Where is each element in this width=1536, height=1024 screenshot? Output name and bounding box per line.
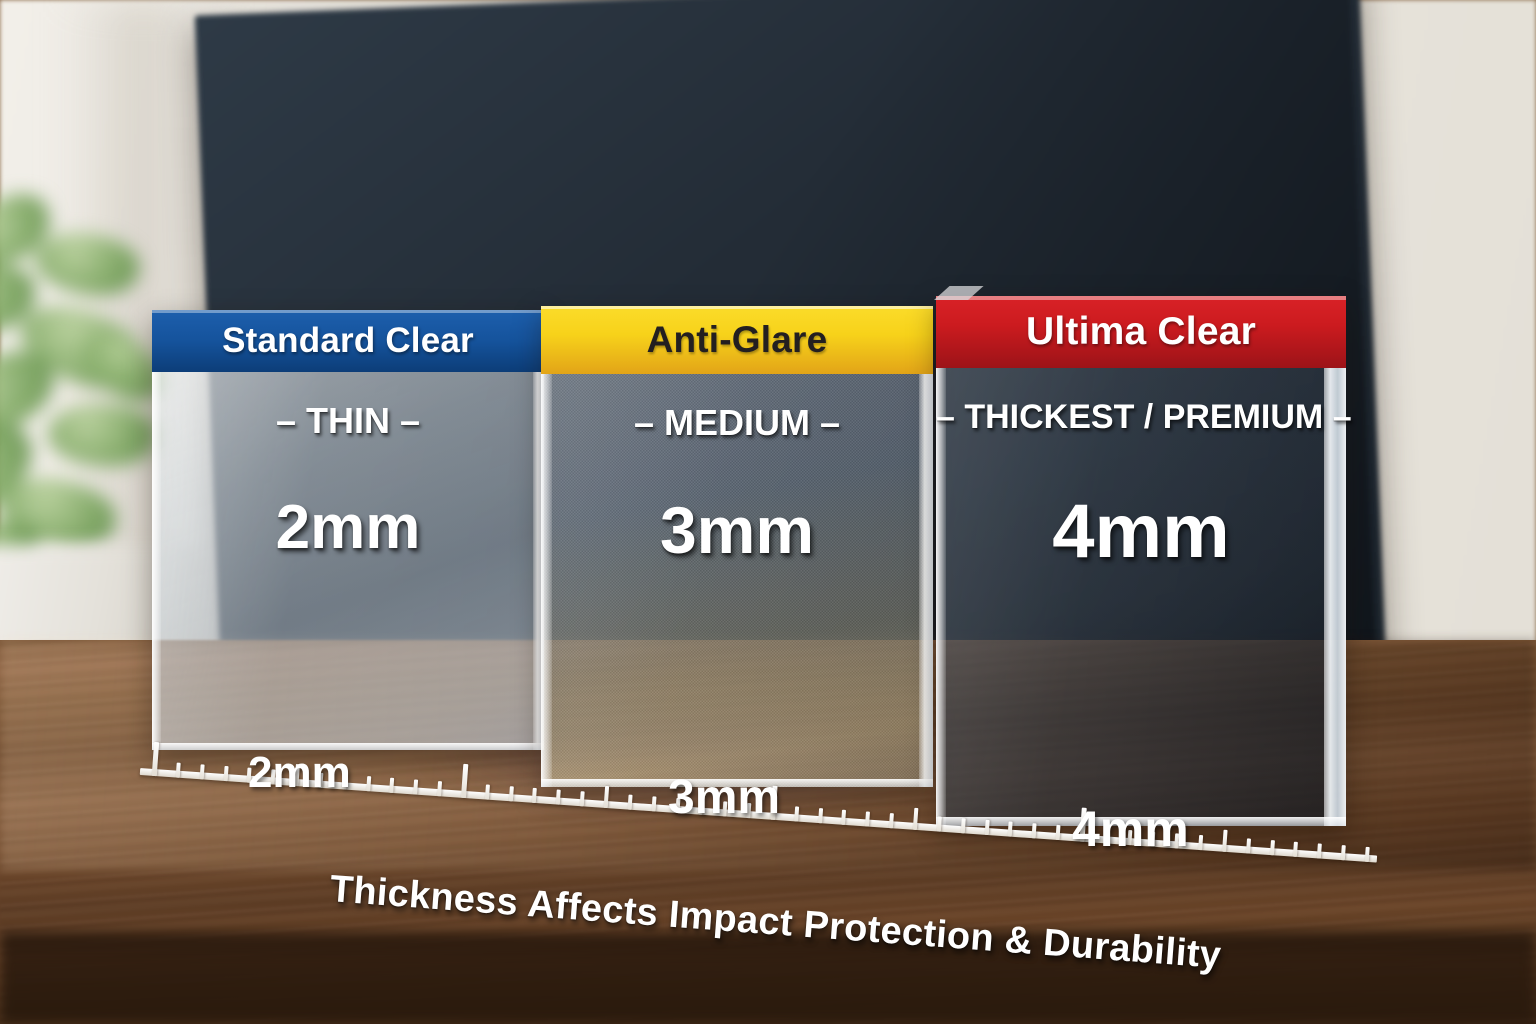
ruler-tick-minor <box>1032 823 1037 838</box>
ruler-tick-minor <box>1198 835 1203 850</box>
ruler-tick-minor <box>1008 821 1013 836</box>
ruler-tick-major <box>461 764 468 798</box>
ruler-tick-minor <box>1341 845 1346 860</box>
panel-anti-glare[interactable]: Anti-Glare – MEDIUM – 3mm <box>541 306 933 787</box>
ruler-label-2mm: 2mm <box>248 748 351 798</box>
ruler-tick-minor <box>413 779 418 794</box>
panel-tier-label: – THICKEST / PREMIUM – <box>936 398 1346 437</box>
panel-header-anti-glare: Anti-Glare <box>541 306 933 374</box>
ruler-tick-minor <box>532 788 537 803</box>
panel-thickness-label: 3mm <box>541 492 933 568</box>
ruler-tick-minor <box>651 796 656 811</box>
panel-tier-label: – MEDIUM – <box>541 402 933 444</box>
panel-title: Standard Clear <box>222 321 474 361</box>
ruler-tick-minor <box>889 813 894 828</box>
ruler-tick-minor <box>437 781 442 796</box>
panel-title: Anti-Glare <box>647 319 828 361</box>
ruler-tick-minor <box>175 763 180 778</box>
ruler-tick-minor <box>556 790 561 805</box>
ruler-tick-minor <box>1317 843 1322 858</box>
ruler-tick-minor <box>865 811 870 826</box>
ruler-tick-minor <box>794 806 799 821</box>
panel-header-ultima-clear: Ultima Clear <box>936 296 1346 368</box>
ruler-tick-minor <box>199 764 204 779</box>
ruler-tick-minor <box>818 808 823 823</box>
scene-stage: Standard Clear – THIN – 2mm Anti-Glare –… <box>0 0 1536 1024</box>
panel-header-standard-clear: Standard Clear <box>152 310 544 372</box>
ruler-tick-minor <box>223 766 228 781</box>
ruler-tick-minor <box>390 778 395 793</box>
ruler-tick-minor <box>604 786 610 808</box>
ruler-label-3mm: 3mm <box>668 770 780 825</box>
ruler-tick-minor <box>1055 825 1060 840</box>
panel-tier-label: – THIN – <box>152 400 544 442</box>
ruler-tick-minor <box>841 810 846 825</box>
ruler-tick-minor <box>1246 838 1251 853</box>
ruler-label-4mm: 4mm <box>1072 800 1189 858</box>
panel-title: Ultima Clear <box>1026 310 1256 354</box>
panel-thickness-label: 4mm <box>936 488 1346 575</box>
ruler-tick-minor <box>1293 842 1298 857</box>
ruler-tick-minor <box>366 776 371 791</box>
ruler-tick-minor <box>1222 830 1228 852</box>
ruler-tick-minor <box>485 784 490 799</box>
ruler-tick-minor <box>580 791 585 806</box>
ruler-tick-minor <box>937 816 942 831</box>
ruler-tick-minor <box>1270 840 1275 855</box>
panel-standard-clear[interactable]: Standard Clear – THIN – 2mm <box>152 310 544 750</box>
ruler-tick-minor <box>508 786 513 801</box>
ruler-tick-minor <box>960 818 965 833</box>
ruler-tick-minor <box>913 808 919 830</box>
ruler-tick-minor <box>627 795 632 810</box>
ruler-tick-minor <box>984 820 989 835</box>
ruler-tick-minor <box>1365 847 1370 862</box>
ruler-tick-major <box>152 742 159 776</box>
panel-thickness-label: 2mm <box>152 492 544 563</box>
